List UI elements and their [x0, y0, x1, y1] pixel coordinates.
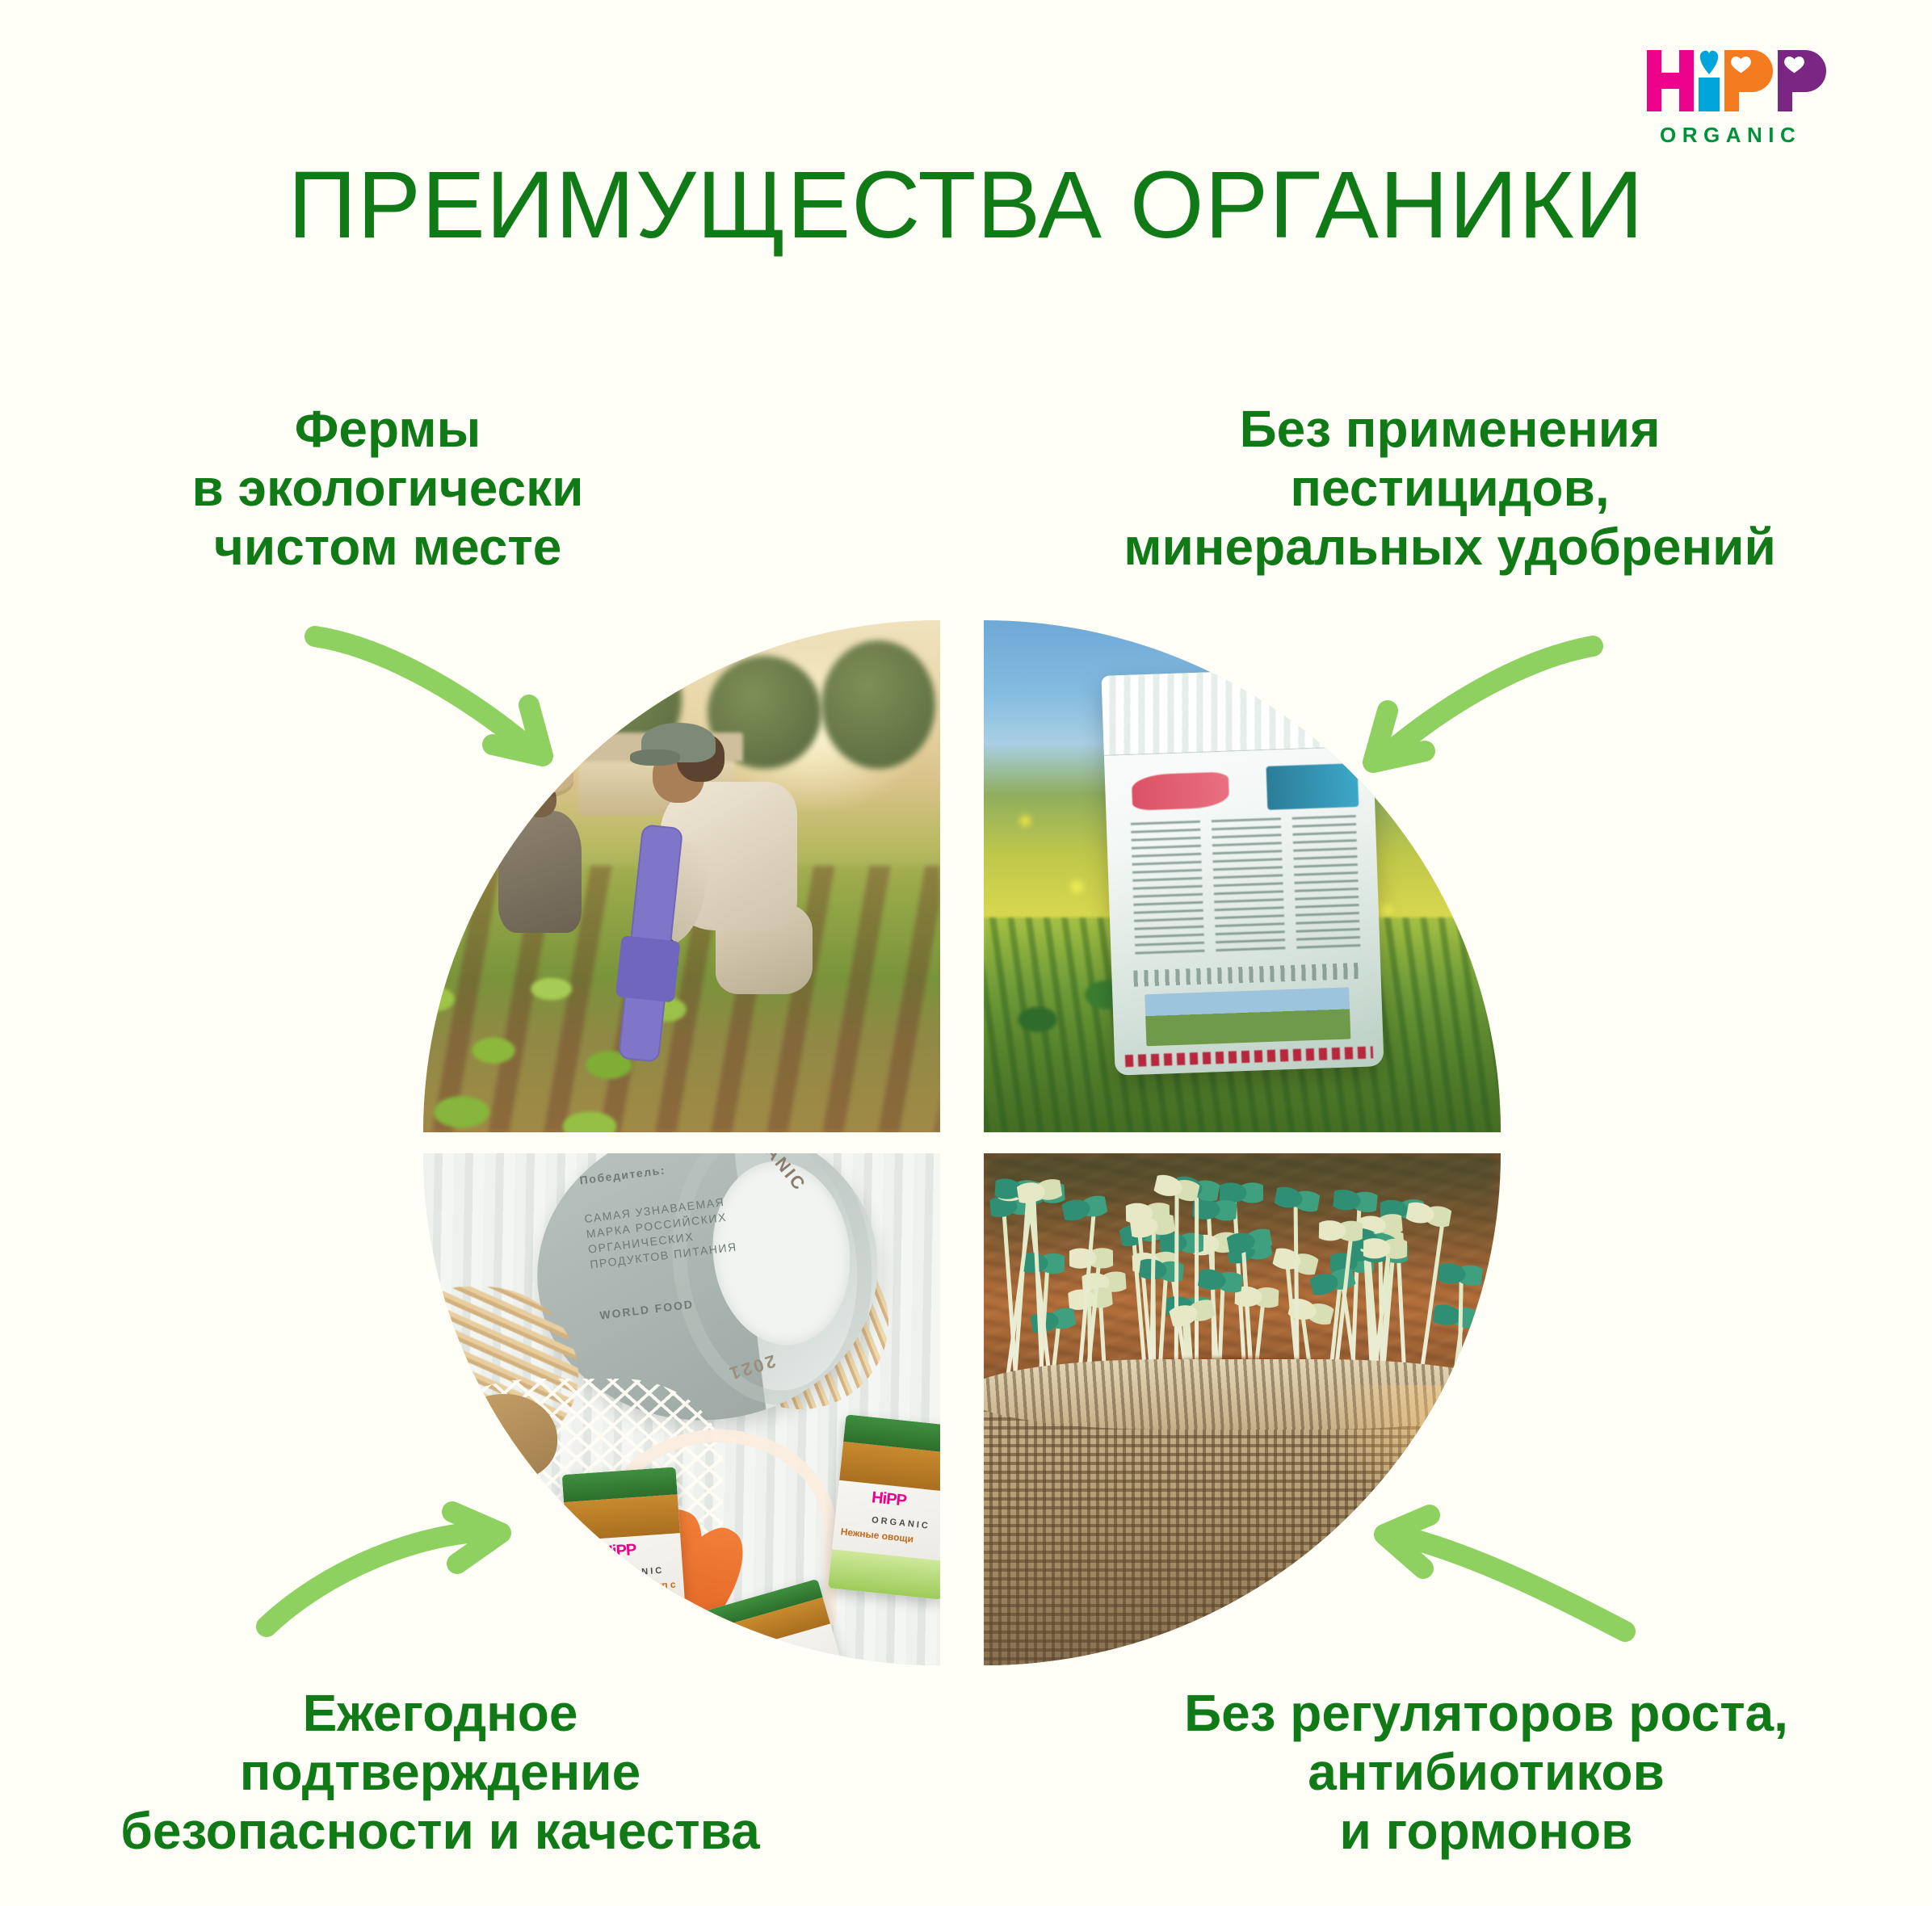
logo-letter-p2-icon [1778, 50, 1826, 111]
logo-letter-i-icon [1699, 51, 1720, 111]
hipp-jar-1: 6 HiPP ORGANIC Овощной крем-суп с индейк… [562, 1467, 687, 1648]
logo-tagline: ORGANIC [1660, 123, 1801, 147]
infographic-poster: ORGANIC ПРЕИМУЩЕСТВА ОРГАНИКИ Фермы в эк… [0, 0, 1932, 1906]
jar-brand-2: HiPP [871, 1488, 907, 1510]
hipp-jar-2: HiPP ORGANIC Нежные овощи [828, 1414, 940, 1599]
hipp-organic-logo: ORGANIC [1644, 39, 1854, 156]
jar-sub-1: ORGANIC [605, 1565, 665, 1579]
jar-desc-1: Овощной крем-суп с индейкой [577, 1579, 678, 1603]
jar-sub-2: ORGANIC [871, 1515, 931, 1531]
logo-letter-p1-icon [1724, 50, 1773, 111]
arrow-to-eco-farms-icon [300, 598, 575, 775]
jar-brand-3: HiPP [748, 1644, 778, 1665]
benefit-label-no-growth-regulators: Без регуляторов роста, антибиотиков и го… [1074, 1684, 1898, 1861]
jar-age-badge-3: 8 [720, 1653, 751, 1665]
arrow-to-annual-certification-icon [249, 1496, 533, 1677]
logo-letter-h-icon [1647, 50, 1694, 111]
benefit-label-annual-certification: Ежегодное подтверждение безопасности и к… [20, 1684, 860, 1861]
jar-brand-1: HiPP [601, 1541, 636, 1562]
benefit-label-no-pesticides: Без применения пестицидов, минеральных у… [1026, 400, 1874, 577]
arrow-to-no-pesticides-icon [1331, 632, 1606, 793]
jar-age-badge-1: 6 [574, 1546, 601, 1576]
arrow-to-no-growth-regulators-icon [1359, 1494, 1649, 1680]
benefit-label-eco-farms: Фермы в экологически чистом месте [65, 400, 711, 577]
page-title: ПРЕИМУЩЕСТВА ОРГАНИКИ [0, 157, 1932, 253]
